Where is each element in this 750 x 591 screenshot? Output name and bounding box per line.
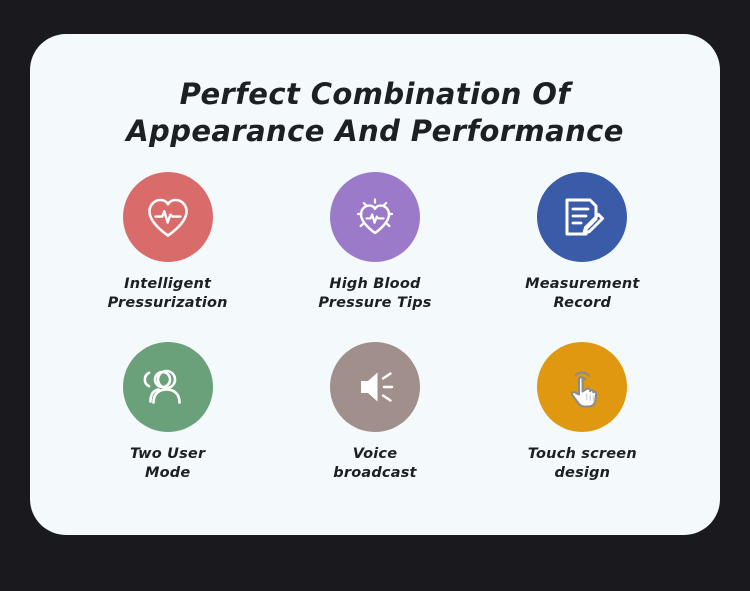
feature-label-two-user-mode: Two User Mode bbox=[130, 445, 205, 483]
icon-circle-two-user-mode bbox=[123, 342, 213, 432]
icon-circle-intelligent-pressurization bbox=[123, 172, 213, 262]
feature-label-voice-broadcast: Voice broadcast bbox=[333, 445, 416, 483]
feature-card: Perfect Combination Of Appearance And Pe… bbox=[30, 34, 720, 535]
page-title-line-1: Perfect Combination Of bbox=[30, 76, 720, 113]
document-pencil-icon bbox=[557, 192, 607, 242]
feature-label-line-2: Pressure Tips bbox=[318, 294, 431, 313]
feature-label-line-2: broadcast bbox=[333, 464, 416, 483]
feature-label-line-1: Two User bbox=[130, 445, 205, 464]
heart-pulse-icon bbox=[141, 190, 195, 244]
icon-circle-high-blood-pressure-tips bbox=[330, 172, 420, 262]
feature-label-line-1: High Blood bbox=[318, 275, 431, 294]
feature-label-line-1: Voice bbox=[333, 445, 416, 464]
feature-label-intelligent-pressurization: Intelligent Pressurization bbox=[108, 275, 228, 313]
feature-item-touch-screen-design: Touch screen design bbox=[479, 342, 686, 512]
touch-hand-icon bbox=[556, 361, 608, 413]
icon-circle-touch-screen-design bbox=[537, 342, 627, 432]
feature-item-two-user-mode: Two User Mode bbox=[64, 342, 271, 512]
feature-item-voice-broadcast: Voice broadcast bbox=[271, 342, 478, 512]
screenshot-stage: Perfect Combination Of Appearance And Pe… bbox=[0, 0, 750, 591]
icon-circle-voice-broadcast bbox=[330, 342, 420, 432]
page-title-line-2: Appearance And Performance bbox=[30, 113, 720, 150]
feature-label-measurement-record: Measurement Record bbox=[525, 275, 639, 313]
feature-label-line-1: Intelligent bbox=[108, 275, 228, 294]
feature-label-line-1: Touch screen bbox=[528, 445, 637, 464]
feature-item-high-blood-pressure-tips: High Blood Pressure Tips bbox=[271, 172, 478, 342]
feature-label-line-2: design bbox=[528, 464, 637, 483]
feature-label-high-blood-pressure-tips: High Blood Pressure Tips bbox=[318, 275, 431, 313]
two-users-icon bbox=[141, 360, 195, 414]
feature-label-line-2: Record bbox=[525, 294, 639, 313]
feature-label-line-1: Measurement bbox=[525, 275, 639, 294]
icon-circle-measurement-record bbox=[537, 172, 627, 262]
heart-pulse-alert-icon bbox=[346, 188, 404, 246]
feature-item-intelligent-pressurization: Intelligent Pressurization bbox=[64, 172, 271, 342]
feature-label-touch-screen-design: Touch screen design bbox=[528, 445, 637, 483]
feature-grid: Intelligent Pressurization bbox=[30, 150, 720, 512]
speaker-broadcast-icon bbox=[349, 361, 401, 413]
feature-item-measurement-record: Measurement Record bbox=[479, 172, 686, 342]
feature-label-line-2: Mode bbox=[130, 464, 205, 483]
feature-label-line-2: Pressurization bbox=[108, 294, 228, 313]
page-title: Perfect Combination Of Appearance And Pe… bbox=[30, 34, 720, 150]
